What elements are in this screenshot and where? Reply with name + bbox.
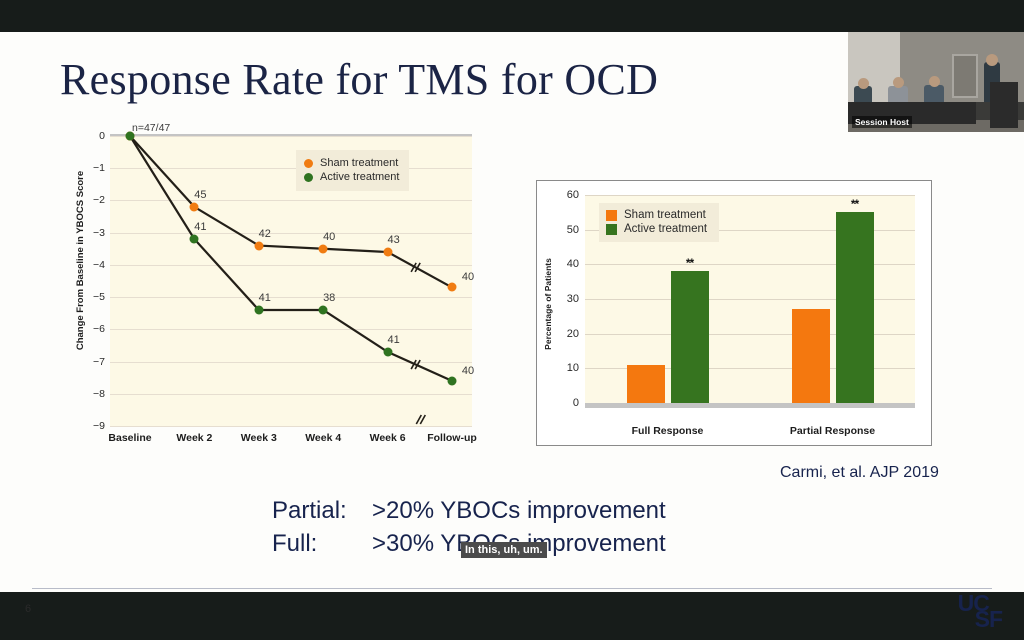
line-chart-y-axis-label: Change From Baseline in YBOCS Score — [72, 130, 90, 390]
legend-swatch-icon — [606, 210, 617, 221]
page-title: Response Rate for TMS for OCD — [60, 54, 860, 105]
bar-chart-bar — [792, 309, 830, 403]
line-chart-data-point — [254, 306, 263, 315]
bar-chart-y-tick: 30 — [567, 293, 579, 305]
bar-chart-x-tick: Partial Response — [790, 425, 875, 437]
citation: Carmi, et al. AJP 2019 — [780, 464, 939, 482]
closed-caption: In this, uh, um. — [461, 542, 547, 558]
legend-label: Active treatment — [624, 223, 707, 235]
ucsf-logo: UC SF — [958, 592, 1002, 631]
person-head — [929, 76, 940, 87]
line-chart-y-tick: −8 — [93, 388, 105, 400]
bar-chart: Percentage of Patients 0102030405060**Fu… — [536, 180, 932, 446]
line-chart: Change From Baseline in YBOCS Score 0−1−… — [78, 130, 478, 450]
line-chart-point-label: 41 — [259, 292, 271, 304]
sample-size-annotation: n=47/47 — [132, 122, 170, 134]
bar-chart-gridline — [585, 195, 915, 196]
line-chart-data-point — [383, 347, 392, 356]
video-player-screen: Response Rate for TMS for OCD Change Fro… — [0, 0, 1024, 640]
line-chart-x-tick: Week 2 — [176, 432, 212, 444]
line-chart-legend: Sham treatmentActive treatment — [296, 150, 409, 191]
line-chart-x-tick: Week 3 — [241, 432, 277, 444]
line-chart-y-tick: −7 — [93, 356, 105, 368]
bar-chart-y-axis-label: Percentage of Patients — [541, 219, 555, 389]
podium — [990, 82, 1018, 128]
legend-swatch-icon — [304, 173, 313, 182]
bar-chart-baseline — [585, 403, 915, 408]
legend-label: Sham treatment — [320, 157, 398, 169]
line-chart-point-label: 41 — [387, 334, 399, 346]
significance-marker: ** — [686, 256, 693, 270]
line-chart-x-tick: Week 4 — [305, 432, 341, 444]
definition-key: Partial: — [272, 494, 372, 527]
line-chart-series-paths — [110, 136, 472, 426]
bar-chart-legend: Sham treatmentActive treatment — [599, 203, 719, 242]
legend-item: Active treatment — [606, 223, 707, 235]
legend-item: Sham treatment — [606, 209, 707, 221]
line-chart-data-point — [254, 241, 263, 250]
line-chart-data-point — [448, 376, 457, 385]
slide-number: 6 — [25, 603, 31, 615]
person-head — [893, 77, 904, 88]
line-chart-x-tick: Baseline — [108, 432, 151, 444]
line-chart-x-tick: Follow-up — [427, 432, 477, 444]
bar-chart-bar — [836, 212, 874, 403]
line-chart-plot-area: 0−1−2−3−4−5−6−7−8−9BaselineWeek 2Week 3W… — [110, 136, 472, 426]
line-chart-data-point — [383, 248, 392, 257]
letterbox-bottom — [0, 592, 1024, 640]
line-chart-data-point — [319, 306, 328, 315]
line-chart-y-tick: −1 — [93, 162, 105, 174]
bar-chart-y-tick: 10 — [567, 362, 579, 374]
line-chart-y-tick: −6 — [93, 323, 105, 335]
definition-key: Full: — [272, 527, 372, 560]
definition-value: >20% YBOCs improvement — [372, 494, 666, 527]
definition-row: Partial: >20% YBOCs improvement — [272, 494, 666, 527]
letterbox-top — [0, 0, 1024, 32]
line-chart-point-label: 43 — [387, 234, 399, 246]
footer-divider — [32, 588, 992, 589]
line-chart-y-tick: −9 — [93, 420, 105, 432]
line-chart-x-tick: Week 6 — [370, 432, 406, 444]
significance-marker: ** — [851, 197, 858, 211]
legend-label: Active treatment — [320, 171, 399, 183]
line-chart-point-label: 45 — [194, 189, 206, 201]
bar-chart-y-tick: 20 — [567, 328, 579, 340]
legend-swatch-icon — [304, 159, 313, 168]
bar-chart-bar — [627, 365, 665, 403]
bar-chart-y-tick: 60 — [567, 189, 579, 201]
line-chart-y-tick: −3 — [93, 227, 105, 239]
line-chart-point-label: 40 — [462, 365, 474, 377]
speaker-head — [986, 54, 998, 66]
background-door — [952, 54, 978, 98]
line-chart-y-tick: −5 — [93, 291, 105, 303]
bar-chart-y-tick: 50 — [567, 224, 579, 236]
person-head — [858, 78, 869, 89]
legend-label: Sham treatment — [624, 209, 706, 221]
line-chart-point-label: 38 — [323, 292, 335, 304]
legend-item: Active treatment — [304, 171, 399, 183]
line-chart-point-label: 40 — [462, 271, 474, 283]
ucsf-logo-line2: SF — [975, 608, 1002, 631]
legend-item: Sham treatment — [304, 157, 399, 169]
line-chart-data-point — [448, 283, 457, 292]
participant-video-tile[interactable]: Session Host — [848, 32, 1024, 132]
line-chart-data-point — [319, 244, 328, 253]
line-chart-y-tick: −2 — [93, 194, 105, 206]
legend-swatch-icon — [606, 224, 617, 235]
bar-chart-y-tick: 40 — [567, 258, 579, 270]
line-chart-point-label: 41 — [194, 221, 206, 233]
line-chart-point-label: 42 — [259, 228, 271, 240]
line-chart-y-tick: −4 — [93, 259, 105, 271]
line-chart-point-label: 40 — [323, 231, 335, 243]
line-chart-gridline — [110, 426, 472, 427]
bar-chart-x-tick: Full Response — [632, 425, 704, 437]
line-chart-data-point — [190, 235, 199, 244]
line-chart-y-tick: 0 — [99, 130, 105, 142]
line-chart-data-point — [190, 202, 199, 211]
bar-chart-y-tick: 0 — [573, 397, 579, 409]
participant-name-label: Session Host — [852, 116, 912, 128]
bar-chart-bar — [671, 271, 709, 403]
